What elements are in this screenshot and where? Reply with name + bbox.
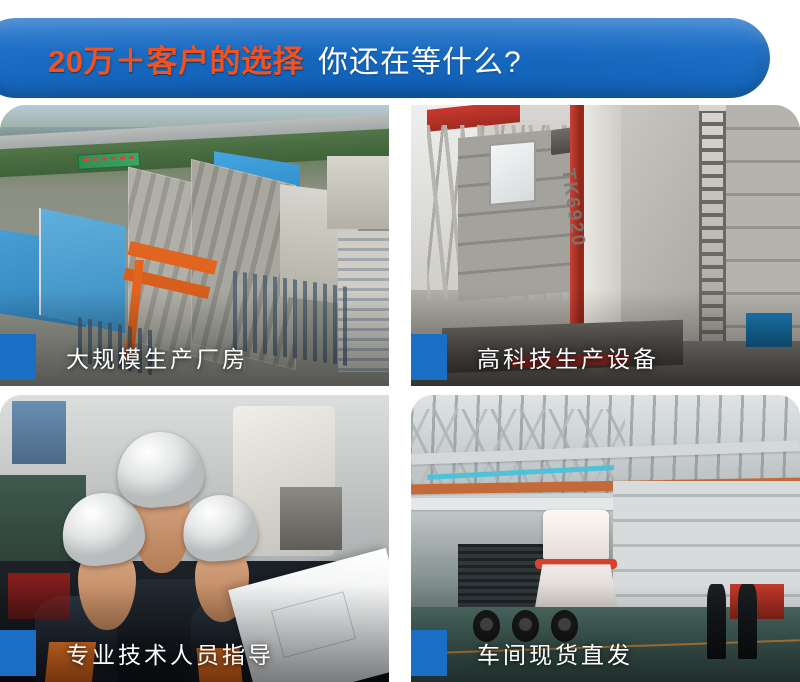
header-banner: 20万＋客户的选择 你还在等什么? [0, 18, 770, 98]
panel-caption-bar: 高科技生产设备 [411, 328, 800, 386]
gallery-panel-professional-guidance[interactable]: 专业技术人员指导 [0, 395, 389, 682]
caption-accent-block [411, 334, 447, 380]
banner-headline-question: 你还在等什么? [318, 37, 522, 81]
caption-accent-block [0, 630, 36, 676]
panel-caption-bar: 大规模生产厂房 [0, 328, 389, 386]
gallery-panel-high-tech-equipment[interactable]: TK6920 高科技生产设备 [411, 105, 800, 386]
caption-accent-block [411, 630, 447, 676]
caption-label: 大规模生产厂房 [66, 340, 248, 374]
gallery-panel-large-scale-workshop[interactable]: 大规模生产厂房 [0, 105, 389, 386]
caption-accent-block [0, 334, 36, 380]
caption-label: 车间现货直发 [477, 636, 633, 670]
banner-headline-highlight: 20万＋客户的选择 [48, 36, 304, 81]
banner-text-group: 20万＋客户的选择 你还在等什么? [0, 36, 522, 81]
gallery-panel-workshop-direct-shipping[interactable]: 车间现货直发 [411, 395, 800, 682]
promo-page: 20万＋客户的选择 你还在等什么? [0, 0, 800, 682]
panel-caption-bar: 专业技术人员指导 [0, 624, 389, 682]
panel-caption-bar: 车间现货直发 [411, 624, 800, 682]
photo-gallery-grid: 大规模生产厂房 TK6920 [0, 105, 800, 682]
caption-label: 高科技生产设备 [477, 340, 659, 374]
caption-label: 专业技术人员指导 [66, 636, 274, 670]
